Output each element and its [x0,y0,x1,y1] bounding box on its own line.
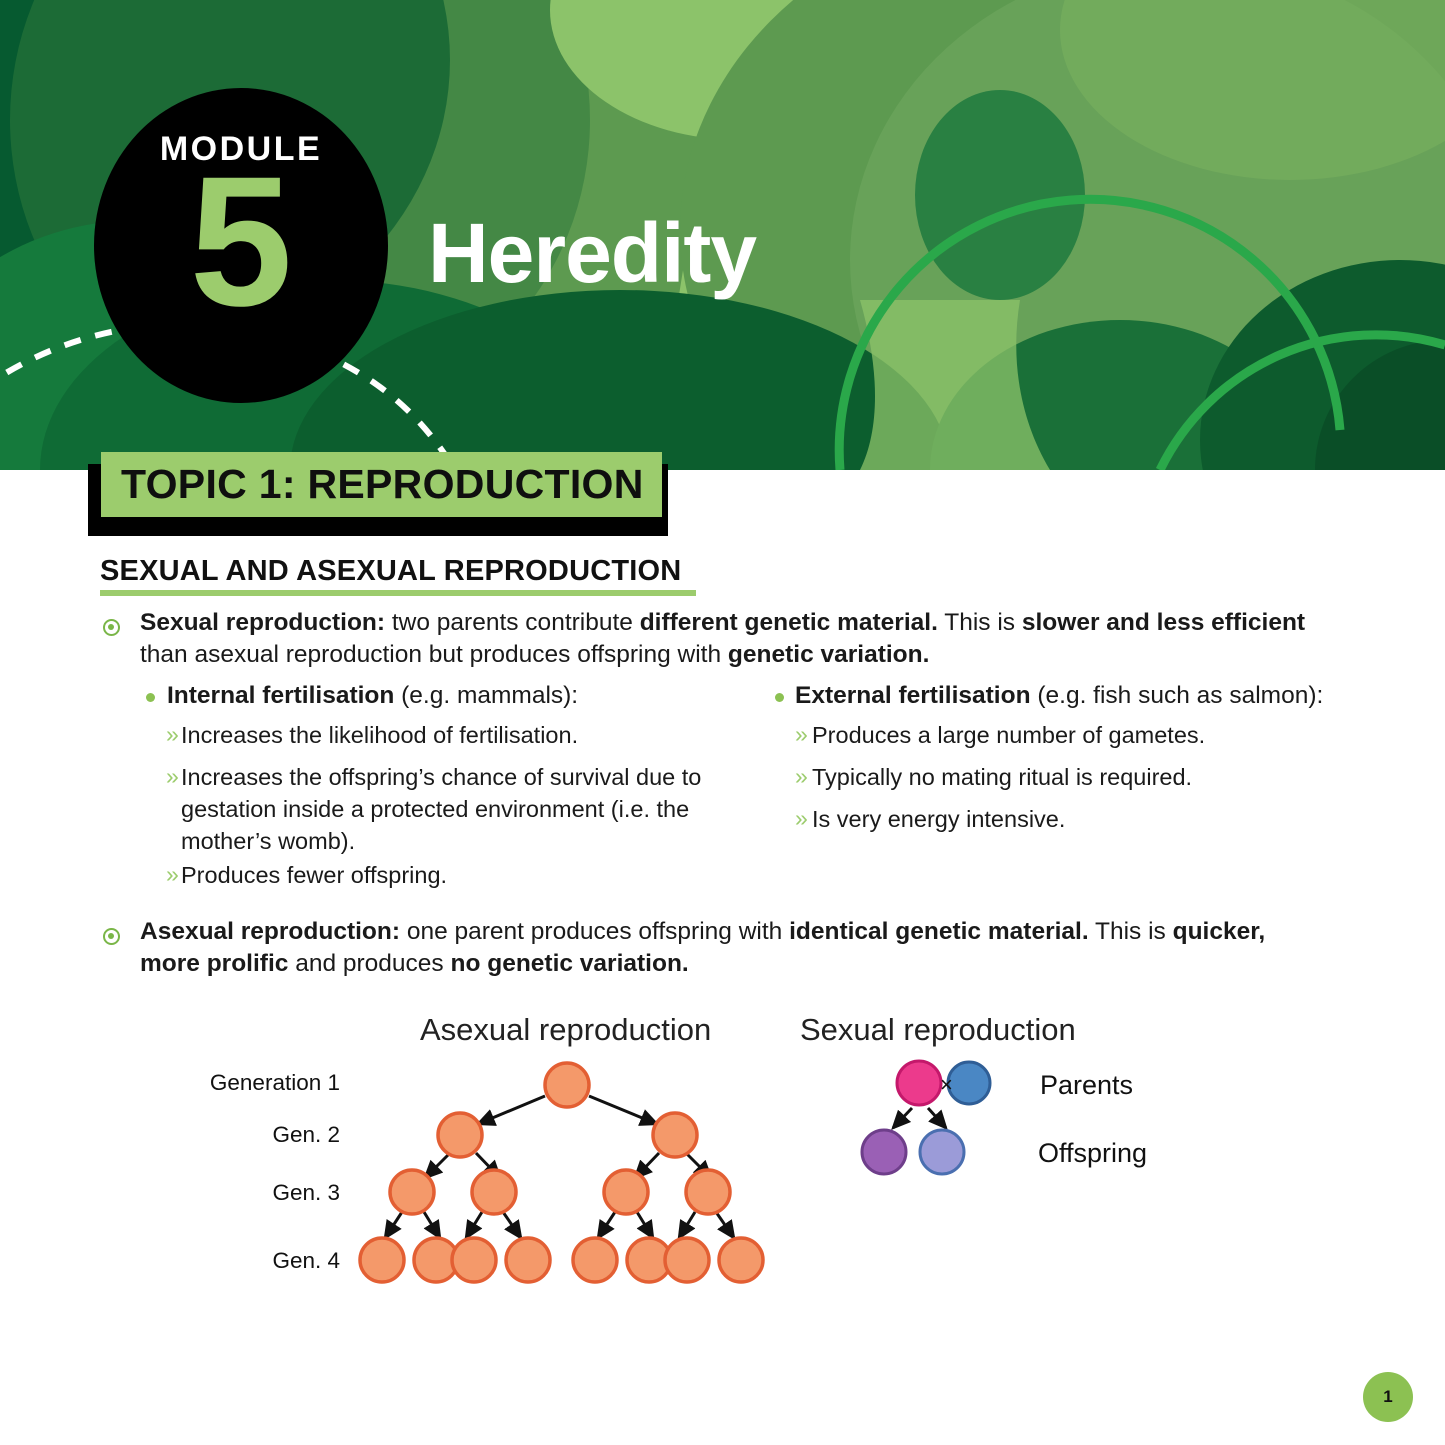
sexual-text-1: two parents contribute [385,609,640,636]
reproduction-diagram: Asexual reproduction Sexual reproduction… [0,1000,1445,1320]
chevron-icon-external-3: » [795,807,808,830]
bullet-marker-asexual [103,928,120,945]
sexual-bold-3: genetic variation. [728,641,930,668]
chevron-icon-internal-2: » [166,765,179,788]
sexual-label: Sexual reproduction: [140,609,385,636]
section-heading: SEXUAL AND ASEXUAL REPRODUCTION [100,555,700,588]
bullet-marker-external [775,693,784,702]
offspring-label: Offspring [1038,1138,1147,1169]
chevron-icon-internal-1: » [166,723,179,746]
chevron-icon-external-2: » [795,765,808,788]
list-item-internal-2: Increases the offspring’s chance of surv… [181,762,713,858]
bullet-marker-sexual [103,619,120,636]
module-badge: MODULE 5 [94,88,388,403]
sexual-text-3: than asexual reproduction but produces o… [140,641,728,668]
cross-symbol: × [940,1072,953,1098]
sexual-bold-1: different genetic material. [640,609,938,636]
asexual-bold-1: identical genetic material. [789,918,1089,945]
section-heading-underline [100,590,696,596]
section-heading-block: SEXUAL AND ASEXUAL REPRODUCTION [100,555,700,596]
paragraph-asexual-reproduction: Asexual reproduction: one parent produce… [140,916,1350,981]
asexual-text-3: and produces [288,950,450,977]
asexual-text-1: one parent produces offspring with [400,918,789,945]
list-item-internal-3: Produces fewer offspring. [181,860,721,892]
sexual-bold-2: slower and less efficient [1022,609,1305,636]
subheading-external-fertilisation: External fertilisation (e.g. fish such a… [795,680,1323,712]
asexual-bold-4: no genetic variation. [450,950,688,977]
chevron-icon-external-1: » [795,723,808,746]
asexual-label: Asexual reproduction: [140,918,400,945]
topic-banner-label: TOPIC 1: REPRODUCTION [121,461,644,508]
list-item-external-1: Produces a large number of gametes. [812,720,1332,752]
page-number-badge: 1 [1363,1372,1413,1422]
header-banner: MODULE 5 Heredity [0,0,1445,470]
external-rest: (e.g. fish such as salmon): [1031,682,1324,709]
list-item-external-2: Typically no mating ritual is required. [812,762,1332,794]
diagram-graphics [0,1000,1445,1320]
topic-banner-box: TOPIC 1: REPRODUCTION [101,452,662,517]
parents-label: Parents [1040,1070,1133,1101]
paragraph-sexual-reproduction: Sexual reproduction: two parents contrib… [140,607,1340,672]
internal-bold: Internal fertilisation [167,682,394,709]
sexual-text-2: This is [938,609,1022,636]
asexual-text-2: This is [1089,918,1173,945]
list-item-internal-1: Increases the likelihood of fertilisatio… [181,720,721,752]
subheading-internal-fertilisation: Internal fertilisation (e.g. mammals): [167,680,578,712]
bullet-marker-internal [146,693,155,702]
external-bold: External fertilisation [795,682,1031,709]
list-item-external-3: Is very energy intensive. [812,804,1332,836]
asexual-bold-3: more prolific [140,950,288,977]
page-number: 1 [1383,1387,1392,1407]
module-number-label: 5 [94,150,388,335]
asexual-bold-2: quicker, [1173,918,1266,945]
chevron-icon-internal-3: » [166,863,179,886]
page-title: Heredity [428,205,756,302]
internal-rest: (e.g. mammals): [394,682,578,709]
